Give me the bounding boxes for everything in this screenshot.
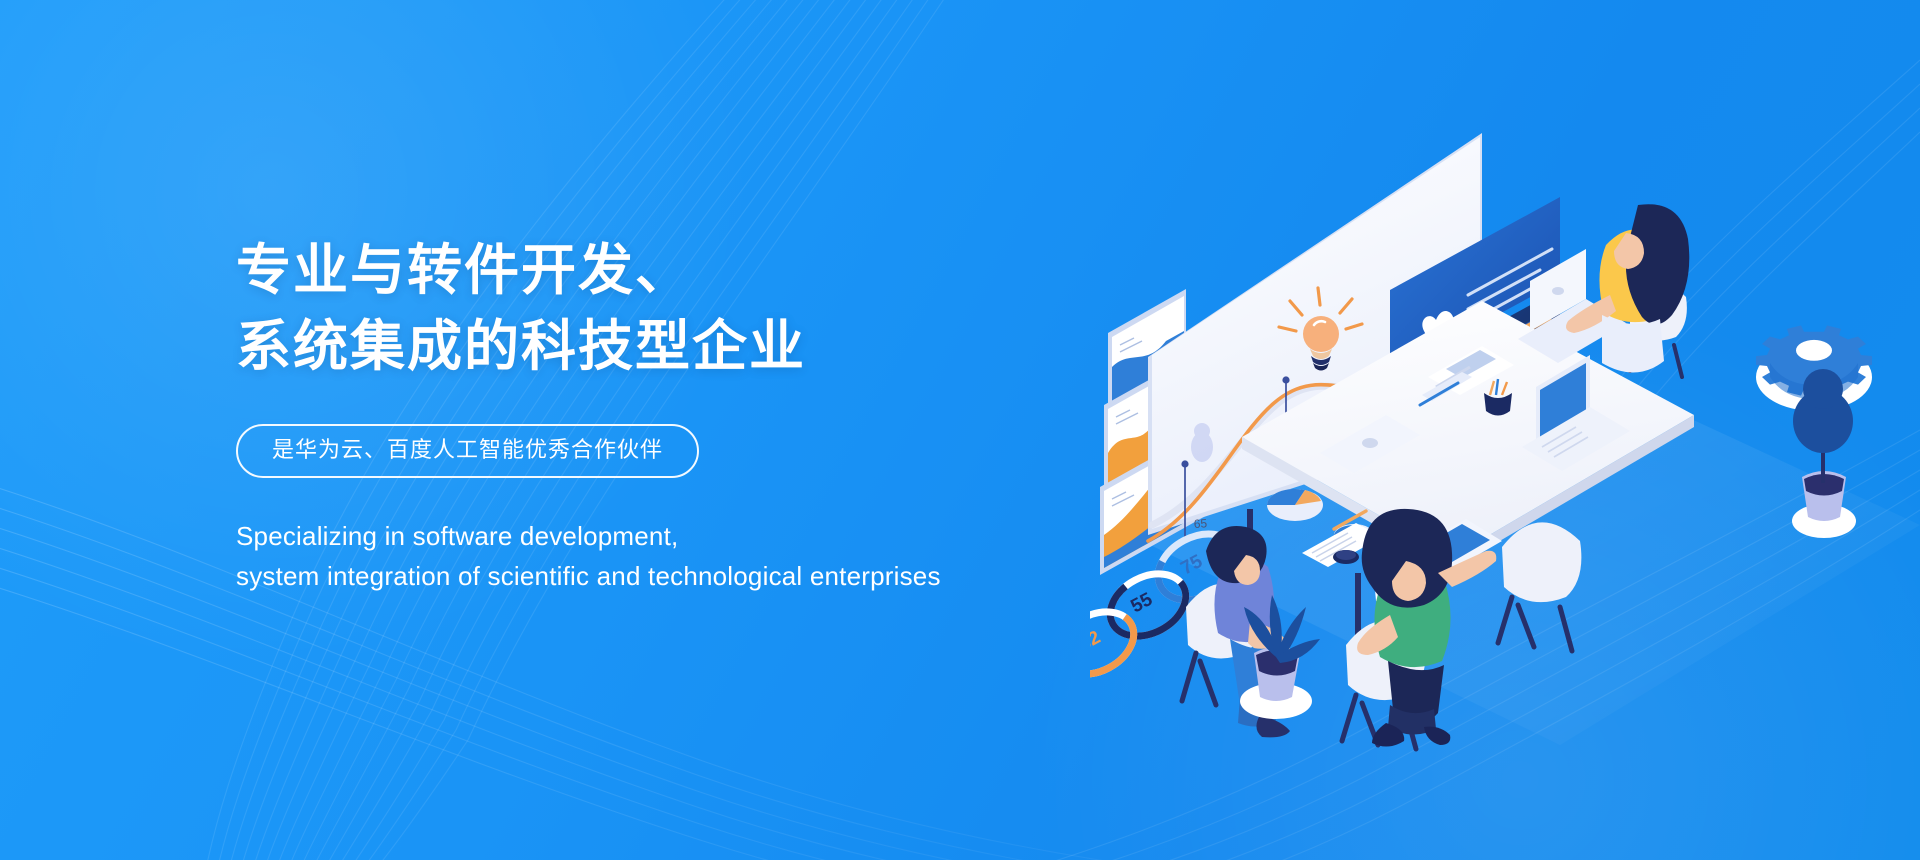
pie-chart-icon — [1267, 489, 1323, 521]
hero-banner: 专业与转件开发、 系统集成的科技型企业 是华为云、百度人工智能优秀合作伙伴 Sp… — [0, 0, 1920, 860]
gauge-value-32: 32 — [1090, 627, 1104, 655]
subtitle-line-2: system integration of scientific and tec… — [236, 556, 1136, 596]
headline-line-1: 专业与转件开发、 — [236, 232, 1136, 308]
chart-label-65: 65 — [1193, 516, 1207, 531]
page-title: 专业与转件开发、 系统集成的科技型企业 — [236, 232, 1136, 384]
subtitle: Specializing in software development, sy… — [236, 516, 1136, 596]
hero-text-block: 专业与转件开发、 系统集成的科技型企业 是华为云、百度人工智能优秀合作伙伴 Sp… — [236, 232, 1136, 596]
partner-badge[interactable]: 是华为云、百度人工智能优秀合作伙伴 — [236, 424, 699, 478]
avatar — [1191, 423, 1213, 462]
hero-illustration: 65 123 97 81 — [1090, 105, 1920, 755]
subtitle-line-1: Specializing in software development, — [236, 516, 1136, 556]
cup-dark-icon — [1333, 550, 1359, 564]
headline-line-2: 系统集成的科技型企业 — [236, 308, 1136, 384]
